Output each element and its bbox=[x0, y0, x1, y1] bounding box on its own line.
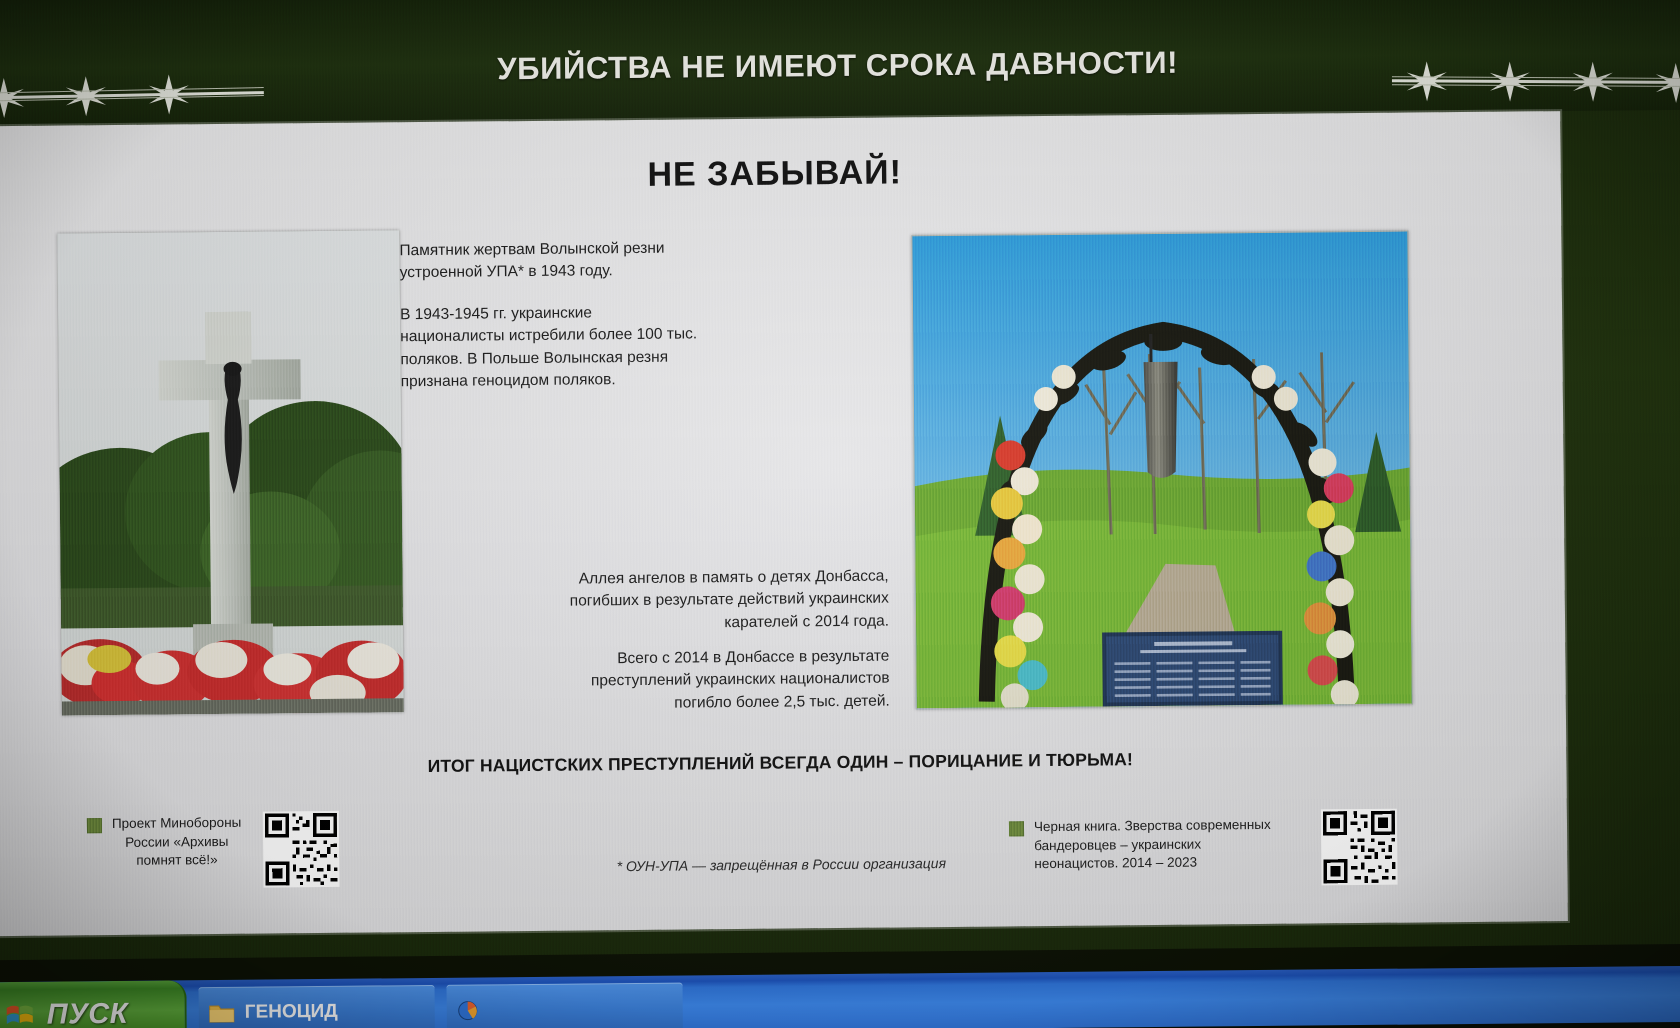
paragraph-volyn-statistics: В 1943-1945 гг. украинские националисты … bbox=[400, 301, 741, 394]
monitor-photograph: УБИЙСТВА НЕ ИМЕЮТ СРОКА ДАВНОСТИ! НЕ ЗАБ… bbox=[0, 0, 1680, 1028]
qr-code-black-book[interactable] bbox=[1321, 809, 1398, 886]
paragraph-angels-alley: Аллея ангелов в память о детях Донбасса,… bbox=[541, 566, 890, 637]
taskbar-item-label: ГЕНОЦИД bbox=[245, 1001, 338, 1024]
slide-header: УБИЙСТВА НЕ ИМЕЮТ СРОКА ДАВНОСТИ! bbox=[0, 0, 1680, 126]
taskbar-item-media[interactable] bbox=[446, 983, 682, 1028]
taskbar-item-genocid[interactable]: ГЕНОЦИД bbox=[199, 985, 435, 1028]
presentation-slide: УБИЙСТВА НЕ ИМЕЮТ СРОКА ДАВНОСТИ! НЕ ЗАБ… bbox=[0, 0, 1680, 960]
paragraph-volyn-monument: Памятник жертвам Волынской резни устроен… bbox=[399, 237, 729, 285]
slide-body: НЕ ЗАБЫВАЙ! bbox=[0, 111, 1568, 936]
paragraph-donbass-statistics: Всего с 2014 в Донбассе в результате пре… bbox=[549, 646, 890, 717]
start-button-label: ПУСК bbox=[47, 997, 129, 1028]
windows-taskbar: ПУСК ГЕНОЦИД bbox=[0, 966, 1680, 1028]
windows-flag-icon bbox=[5, 1002, 35, 1028]
folder-icon bbox=[209, 1002, 235, 1024]
page-title: НЕ ЗАБЫВАЙ! bbox=[0, 147, 1561, 201]
start-button[interactable]: ПУСК bbox=[0, 980, 187, 1028]
angels-alley-photo bbox=[911, 231, 1413, 710]
memorial-cross-photo bbox=[57, 230, 404, 715]
media-player-icon bbox=[457, 999, 483, 1021]
monitor-screen: УБИЙСТВА НЕ ИМЕЮТ СРОКА ДАВНОСТИ! НЕ ЗАБ… bbox=[0, 0, 1680, 1028]
bullet-square-icon bbox=[1009, 821, 1024, 836]
conclusion-statement: ИТОГ НАЦИСТСКИХ ПРЕСТУПЛЕНИЙ ВСЕГДА ОДИН… bbox=[0, 745, 1566, 781]
bullet-square-icon bbox=[87, 818, 102, 833]
